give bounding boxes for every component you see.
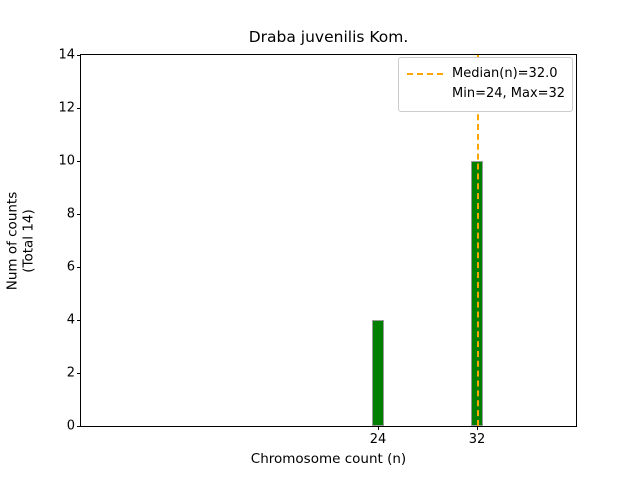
y-tick-mark [77,108,81,109]
y-tick-label: 6 [67,261,75,274]
page-title: Draba juvenilis Kom. [80,28,577,46]
y-tick-mark [77,214,81,215]
x-tick-label: 32 [469,433,486,446]
x-tick-mark [378,426,379,430]
y-tick-mark [77,320,81,321]
x-tick-label: 24 [370,433,387,446]
y-tick-mark [77,426,81,427]
y-tick-label: 10 [58,155,75,168]
y-tick-label: 2 [67,367,75,380]
y-axis-label-primary: Num of counts [6,191,21,290]
x-tick-mark [477,426,478,430]
y-tick-label: 4 [67,314,75,327]
y-tick-label: 12 [58,102,75,115]
y-tick-label: 0 [67,420,75,433]
y-tick-mark [77,55,81,56]
legend-item-median: Median(n)=32.0 [407,64,564,84]
y-tick-mark [77,161,81,162]
bar-24 [372,320,384,426]
figure-canvas: Draba juvenilis Kom. Num of counts (Tota… [0,0,640,480]
y-axis-label: Num of counts (Total 14) [0,54,42,427]
y-axis-label-total: (Total 14) [22,209,37,273]
y-tick-mark [77,267,81,268]
dashed-line-icon [407,73,443,75]
legend-item-label: Median(n)=32.0 [452,66,558,82]
y-tick-label: 14 [58,49,75,62]
legend-item-label: Min=24, Max=32 [452,86,565,102]
x-axis-label: Chromosome count (n) [80,452,577,467]
legend-item-minmax: Min=24, Max=32 [407,84,564,104]
y-tick-mark [77,373,81,374]
chart-legend: Median(n)=32.0 Min=24, Max=32 [398,57,573,112]
y-tick-label: 8 [67,208,75,221]
